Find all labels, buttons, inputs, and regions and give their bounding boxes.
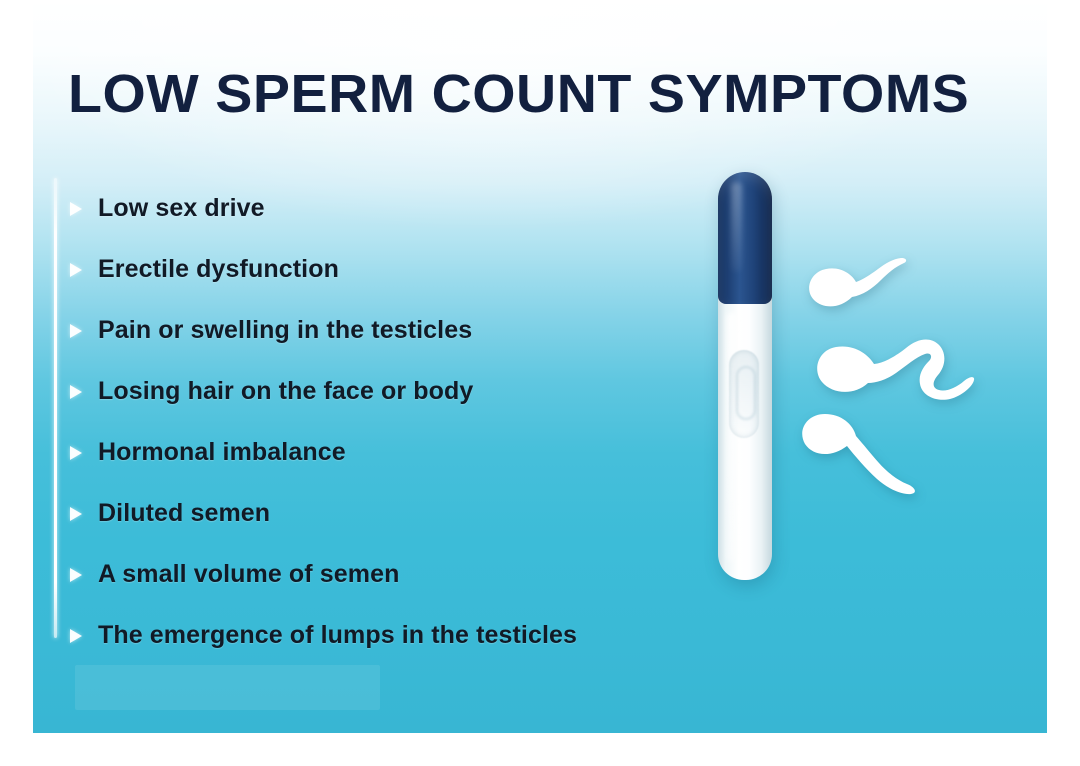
list-accent-rail bbox=[54, 178, 57, 638]
test-stick-cap-gloss bbox=[731, 182, 742, 272]
sperm-cell-1 bbox=[800, 256, 920, 326]
list-item: Diluted semen bbox=[70, 483, 770, 544]
triangle-right-icon bbox=[70, 263, 82, 277]
list-item: Erectile dysfunction bbox=[70, 239, 770, 300]
list-item: Losing hair on the face or body bbox=[70, 361, 770, 422]
symptom-label: A small volume of semen bbox=[98, 560, 399, 589]
list-item: The emergence of lumps in the testicles bbox=[70, 605, 770, 666]
symptom-label: The emergence of lumps in the testicles bbox=[98, 621, 577, 650]
page-title: LOW SPERM COUNT SYMPTOMS bbox=[68, 66, 1026, 123]
list-item: A small volume of semen bbox=[70, 544, 770, 605]
test-stick-cap bbox=[718, 172, 772, 304]
list-item: Hormonal imbalance bbox=[70, 422, 770, 483]
list-item: Pain or swelling in the testicles bbox=[70, 300, 770, 361]
test-stick-result-window bbox=[729, 350, 759, 438]
symptom-label: Diluted semen bbox=[98, 499, 270, 528]
triangle-right-icon bbox=[70, 568, 82, 582]
triangle-right-icon bbox=[70, 324, 82, 338]
symptom-label: Hormonal imbalance bbox=[98, 438, 346, 467]
pregnancy-test-stick bbox=[715, 172, 775, 580]
footer-placeholder-block bbox=[75, 665, 380, 710]
symptom-label: Pain or swelling in the testicles bbox=[98, 316, 472, 345]
symptom-label: Losing hair on the face or body bbox=[98, 377, 473, 406]
test-stick-highlight bbox=[727, 312, 736, 562]
triangle-right-icon bbox=[70, 507, 82, 521]
list-item: Low sex drive bbox=[70, 178, 770, 239]
symptom-list: Low sex drive Erectile dysfunction Pain … bbox=[70, 178, 770, 666]
symptom-label: Low sex drive bbox=[98, 194, 265, 223]
triangle-right-icon bbox=[70, 446, 82, 460]
triangle-right-icon bbox=[70, 629, 82, 643]
symptom-label: Erectile dysfunction bbox=[98, 255, 339, 284]
triangle-right-icon bbox=[70, 385, 82, 399]
sperm-cell-2 bbox=[810, 330, 990, 420]
infographic-slide: LOW SPERM COUNT SYMPTOMS Low sex drive E… bbox=[0, 0, 1080, 766]
sperm-cell-3 bbox=[793, 408, 928, 503]
triangle-right-icon bbox=[70, 202, 82, 216]
